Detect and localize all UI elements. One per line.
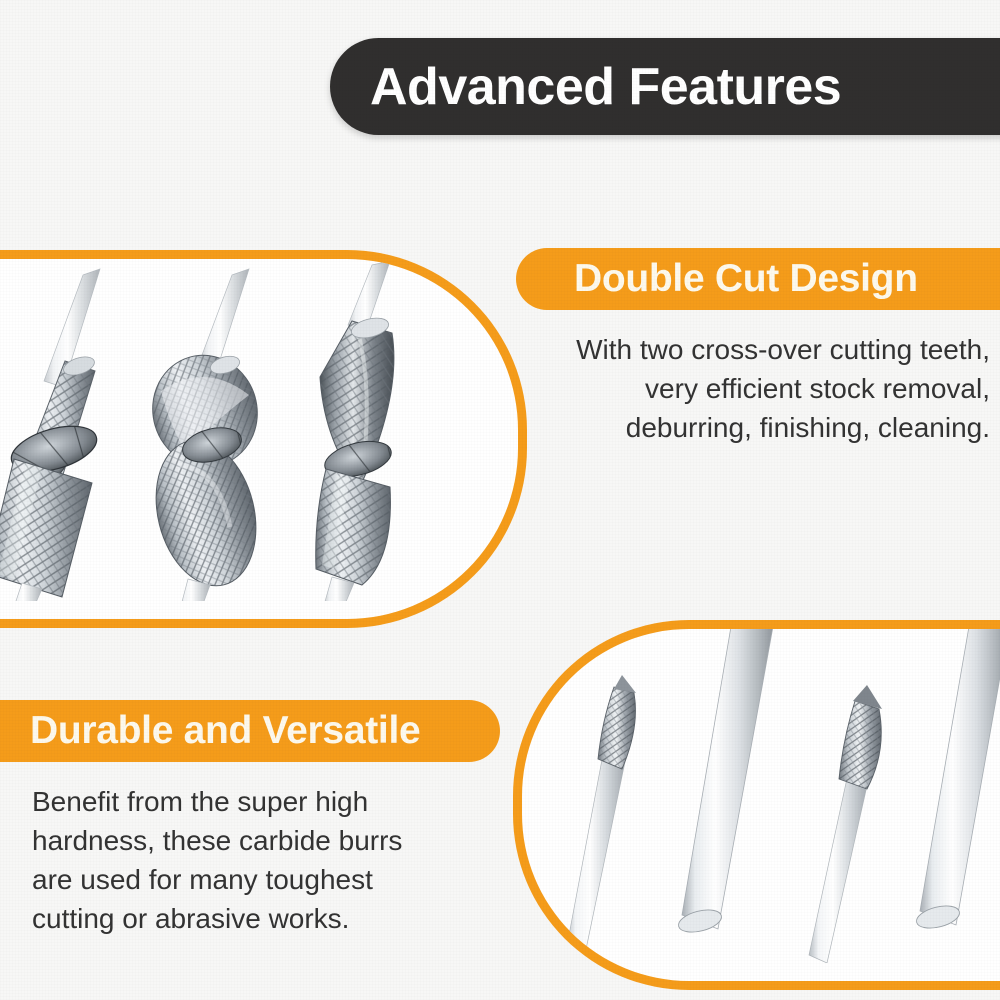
long-shank-burr-set-image [522, 629, 1000, 963]
feature-heading-double-cut: Double Cut Design [516, 248, 1000, 310]
burr-set-image [0, 259, 500, 601]
feature-heading-label: Double Cut Design [516, 257, 918, 301]
page-title: Advanced Features [330, 57, 841, 117]
feature-body-double-cut: With two cross-over cutting teeth, very … [520, 330, 990, 447]
photo-panel-double-cut [0, 250, 527, 628]
feature-heading-durable: Durable and Versatile [0, 700, 500, 762]
feature-body-durable: Benefit from the super high hardness, th… [32, 782, 472, 938]
feature-heading-label: Durable and Versatile [0, 709, 420, 753]
page-title-banner: Advanced Features [330, 38, 1000, 135]
photo-panel-durable [513, 620, 1000, 990]
